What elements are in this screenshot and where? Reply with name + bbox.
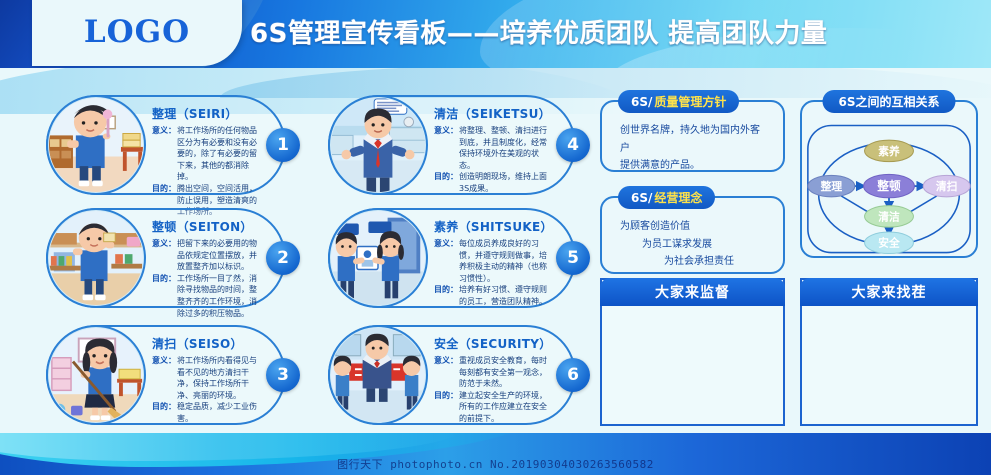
quality-policy-body: 创世界名牌，持久地为国内外客户 提供满意的产品。	[602, 122, 783, 175]
meaning-text: 将整理、整顿、清扫进行到底，并且制度化，经常保持环境外在美观的状态。	[459, 125, 548, 171]
card-illustration	[328, 325, 428, 425]
safety-banner-workers-icon	[330, 327, 426, 423]
node-label: 清洁	[878, 210, 900, 223]
six-s-card[interactable]: 整理（SEIRI） 意义： 将工作场所的任何物品区分为有必要和没有必要的，除了有…	[46, 95, 286, 195]
meaning-label: 意义：	[434, 238, 458, 284]
philosophy-line: 为员工谋求发展	[620, 236, 765, 254]
business-philosophy-body: 为顾客创造价值 为员工谋求发展 为社会承担责任	[602, 218, 783, 271]
six-s-card[interactable]: 素养（SHITSUKE） 意义： 每位成员养成良好的习惯，并遵守规则做事，培养积…	[328, 208, 576, 308]
link-zhengli-qingjie	[841, 196, 870, 214]
card-purpose-row: 目的： 创造明朗现场，维持上面3S成果。	[434, 171, 548, 194]
purpose-label: 目的：	[434, 171, 458, 194]
card-number-badge: 5	[556, 241, 590, 275]
girl-sweeping-floor-icon	[48, 327, 144, 423]
card-purpose-row: 目的： 工作场所一目了然，消除寻找物品的时间，整整齐齐的工作环境，消除过多的积压…	[152, 273, 258, 319]
fault-finding-panel[interactable]: 大家来找茬	[800, 278, 978, 426]
card-illustration	[328, 208, 428, 308]
fault-finding-panel-title: 大家来找茬	[800, 278, 978, 306]
card-number-badge: 2	[266, 241, 300, 275]
six-s-card[interactable]: 整顿（SEITON） 意义： 把留下来的必要用的物品依规定位置摆放，并放置整齐加…	[46, 208, 286, 308]
card-text: 安全（SECURITY） 意义： 重视成员安全教育，每时每刻都有安全第一观念，防…	[434, 335, 548, 425]
card-title: 整顿（SEITON）	[152, 218, 258, 235]
policy-line: 创世界名牌，持久地为国内外客户	[620, 122, 765, 157]
meaning-label: 意义：	[434, 355, 458, 390]
card-number-badge: 4	[556, 128, 590, 162]
link-qingsao-qingjie	[908, 196, 937, 214]
card-meaning-row: 意义： 每位成员养成良好的习惯，并遵守规则做事，培养积极主动的精神（也称习惯性）…	[434, 238, 548, 284]
node-label: 清扫	[936, 180, 958, 193]
purpose-text: 建立起安全生产的环境，所有的工作应建立在安全的前提下。	[459, 390, 548, 425]
card-meaning-row: 意义： 重视成员安全教育，每时每刻都有安全第一观念，防范于未然。	[434, 355, 548, 390]
diagram-node-qingsao: 清扫	[923, 175, 970, 197]
six-s-card[interactable]: 清扫（SEISO） 意义： 将工作场所内看得见与看不见的地方清扫干净，保持工作场…	[46, 325, 286, 425]
card-illustration	[46, 95, 146, 195]
man-in-suit-office-icon	[330, 97, 426, 193]
node-label: 整理	[820, 180, 843, 193]
node-label: 安全	[878, 237, 900, 250]
pill-prefix: 6S/	[631, 191, 652, 205]
boy-organizing-shelf-icon	[48, 97, 144, 193]
card-text: 素养（SHITSUKE） 意义： 每位成员养成良好的习惯，并遵守规则做事，培养积…	[434, 218, 548, 308]
card-title: 安全（SECURITY）	[434, 335, 548, 352]
six-s-card[interactable]: 清洁（SEIKETSU） 意义： 将整理、整顿、清扫进行到底，并且制度化，经常保…	[328, 95, 576, 195]
watermark-text: 图行天下 photophoto.cn No.201903040302635605…	[0, 456, 991, 472]
purpose-label: 目的：	[152, 401, 176, 424]
diagram-node-suyang: 素养	[865, 140, 914, 162]
pill-prefix: 6S/	[631, 95, 652, 109]
diagram-node-zhengdun: 整顿	[864, 174, 915, 197]
card-purpose-row: 目的： 稳定品质，减少工业伤害。	[152, 401, 258, 424]
meaning-text: 将工作场所内看得见与看不见的地方清扫干净，保持工作场所干净、亮丽的环境。	[177, 355, 258, 401]
meaning-label: 意义：	[152, 238, 176, 273]
business-philosophy-pill: 6S/ 经营理念	[618, 186, 715, 209]
meaning-text: 每位成员养成良好的习惯，并遵守规则做事，培养积极主动的精神（也称习惯性）。	[459, 238, 548, 284]
business-philosophy-panel: 6S/ 经营理念 为顾客创造价值 为员工谋求发展 为社会承担责任	[600, 196, 785, 274]
quality-policy-panel: 6S/ 质量管理方针 创世界名牌，持久地为国内外客户 提供满意的产品。	[600, 100, 785, 172]
card-illustration	[46, 208, 146, 308]
card-title: 整理（SEIRI）	[152, 105, 258, 122]
page-title: 6S管理宣传看板——培养优质团队 提高团队力量	[250, 13, 980, 50]
purpose-label: 目的：	[434, 390, 458, 425]
card-text: 清扫（SEISO） 意义： 将工作场所内看得见与看不见的地方清扫干净，保持工作场…	[152, 335, 258, 425]
six-s-card[interactable]: 安全（SECURITY） 意义： 重视成员安全教育，每时每刻都有安全第一观念，防…	[328, 325, 576, 425]
purpose-text: 稳定品质，减少工业伤害。	[177, 401, 258, 424]
diagram-node-qingjie: 清洁	[865, 206, 914, 228]
card-text: 整顿（SEITON） 意义： 把留下来的必要用的物品依规定位置摆放，并放置整齐加…	[152, 218, 258, 319]
card-number-badge: 3	[266, 358, 300, 392]
quality-policy-pill: 6S/ 质量管理方针	[618, 90, 739, 113]
card-number-badge: 1	[266, 128, 300, 162]
boy-arranging-books-icon	[48, 210, 144, 306]
card-text: 整理（SEIRI） 意义： 将工作场所的任何物品区分为有必要和没有必要的，除了有…	[152, 105, 258, 218]
policy-line: 提供满意的产品。	[620, 157, 765, 175]
poster-header: LOGO 6S管理宣传看板——培养优质团队 提高团队力量	[0, 0, 991, 72]
logo-text: LOGO	[52, 14, 222, 50]
supervision-panel-title: 大家来监督	[600, 278, 785, 306]
card-text: 清洁（SEIKETSU） 意义： 将整理、整顿、清扫进行到底，并且制度化，经常保…	[434, 105, 548, 195]
card-illustration	[46, 325, 146, 425]
relationship-diagram-title: 6S之间的互相关系	[823, 90, 956, 113]
meaning-text: 把留下来的必要用的物品依规定位置摆放，并放置整齐加以标识。	[177, 238, 258, 273]
purpose-text: 培养有好习惯、遵守规则的员工，营造团队精神。	[459, 284, 548, 307]
card-number-badge: 6	[556, 358, 590, 392]
supervision-panel[interactable]: 大家来监督	[600, 278, 785, 426]
card-title: 清扫（SEISO）	[152, 335, 258, 352]
card-meaning-row: 意义： 将工作场所的任何物品区分为有必要和没有必要的，除了有必要的留下来，其他的…	[152, 125, 258, 183]
card-illustration	[328, 95, 428, 195]
diagram-node-anquan: 安全	[865, 232, 914, 254]
philosophy-line: 为社会承担责任	[620, 253, 765, 271]
pill-suffix: 经营理念	[654, 189, 702, 206]
philosophy-line: 为顾客创造价值	[620, 218, 765, 236]
meaning-label: 意义：	[152, 355, 176, 401]
meaning-text: 重视成员安全教育，每时每刻都有安全第一观念，防范于未然。	[459, 355, 548, 390]
card-meaning-row: 意义： 将工作场所内看得见与看不见的地方清扫干净，保持工作场所干净、亮丽的环境。	[152, 355, 258, 401]
meaning-label: 意义：	[152, 125, 176, 183]
meaning-label: 意义：	[434, 125, 458, 171]
purpose-text: 创造明朗现场，维持上面3S成果。	[459, 171, 548, 194]
relationship-diagram: 素养 整理 整顿 清扫 清洁 安全	[802, 120, 976, 260]
purpose-label: 目的：	[434, 284, 458, 307]
meaning-text: 将工作场所的任何物品区分为有必要和没有必要的，除了有必要的留下来，其他的都消除掉…	[177, 125, 258, 183]
node-label: 整顿	[876, 179, 901, 193]
purpose-text: 工作场所一目了然，消除寻找物品的时间，整整齐齐的工作环境，消除过多的积压物品。	[177, 273, 258, 319]
node-label: 素养	[877, 145, 900, 158]
card-meaning-row: 意义： 把留下来的必要用的物品依规定位置摆放，并放置整齐加以标识。	[152, 238, 258, 273]
relationship-diagram-panel: 6S之间的互相关系 素养	[800, 100, 978, 258]
diagram-node-zhengli: 整理	[808, 175, 855, 197]
purpose-label: 目的：	[152, 273, 176, 319]
card-title: 清洁（SEIKETSU）	[434, 105, 548, 122]
card-purpose-row: 目的： 建立起安全生产的环境，所有的工作应建立在安全的前提下。	[434, 390, 548, 425]
poster-board: LOGO 6S管理宣传看板——培养优质团队 提高团队力量	[0, 0, 991, 475]
card-purpose-row: 目的： 培养有好习惯、遵守规则的员工，营造团队精神。	[434, 284, 548, 307]
two-people-queue-signs-icon	[330, 210, 426, 306]
card-title: 素养（SHITSUKE）	[434, 218, 548, 235]
pill-suffix: 质量管理方针	[654, 93, 726, 110]
card-meaning-row: 意义： 将整理、整顿、清扫进行到底，并且制度化，经常保持环境外在美观的状态。	[434, 125, 548, 171]
